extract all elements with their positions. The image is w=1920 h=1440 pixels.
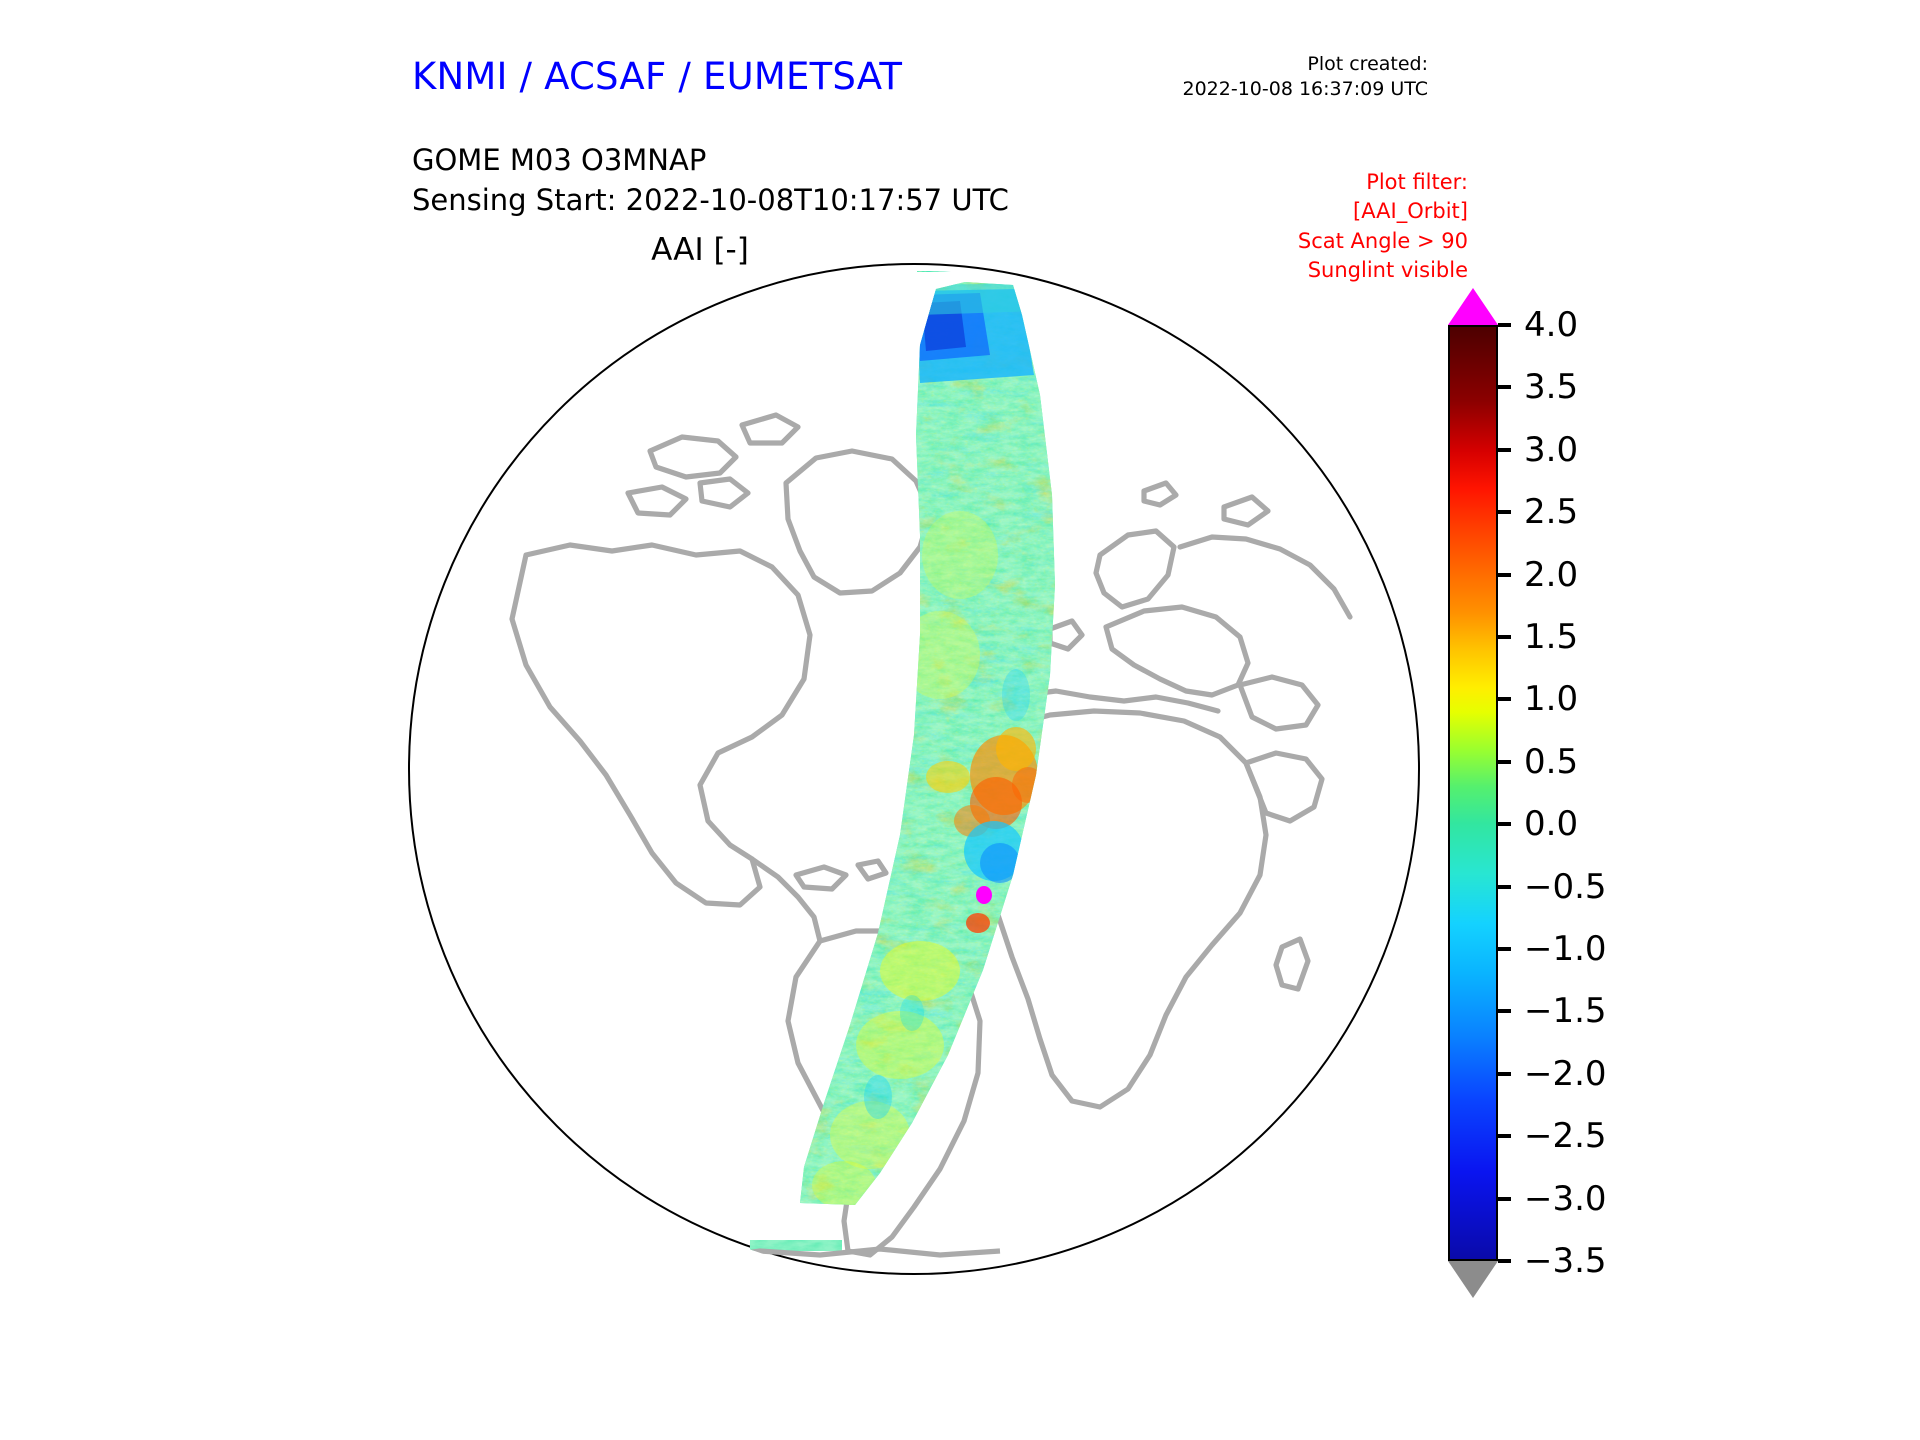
colorbar-tick-label: 0.5 xyxy=(1524,741,1578,783)
globe-graphics xyxy=(400,255,1440,1295)
colorbar-bar xyxy=(1448,325,1498,1261)
colorbar-tick-mark xyxy=(1498,635,1511,639)
colorbar-tick-label: −2.0 xyxy=(1524,1053,1607,1095)
colorbar-tick-mark xyxy=(1498,885,1511,889)
colorbar-tick-label: 2.5 xyxy=(1524,491,1578,533)
product-info-block: GOME M03 O3MNAP Sensing Start: 2022-10-0… xyxy=(412,140,1009,220)
colorbar-gradient xyxy=(1450,327,1496,1259)
colorbar-tick-label: 1.0 xyxy=(1524,678,1578,720)
colorbar-tick-label: −3.0 xyxy=(1524,1178,1607,1220)
colorbar-tick-mark xyxy=(1498,510,1511,514)
orthographic-map xyxy=(400,255,1440,1295)
colorbar-tick-label: −1.5 xyxy=(1524,990,1607,1032)
colorbar-tick-mark xyxy=(1498,697,1511,701)
plot-created-block: Plot created: 2022-10-08 16:37:09 UTC xyxy=(1183,52,1429,102)
colorbar-tick-label: 3.0 xyxy=(1524,429,1578,471)
colorbar-tick-mark xyxy=(1498,1197,1511,1201)
organisation-title: KNMI / ACSAF / EUMETSAT xyxy=(412,55,902,98)
colorbar-tick-mark xyxy=(1498,822,1511,826)
antarctica-coastline xyxy=(700,1249,1000,1259)
colorbar-tick-mark xyxy=(1498,1134,1511,1138)
plot-filter-line-0: [AAI_Orbit] xyxy=(1298,197,1468,226)
aai-swath xyxy=(780,275,1080,1225)
colorbar-tick-mark xyxy=(1498,385,1511,389)
colorbar-under-range-arrow xyxy=(1448,1261,1498,1298)
swath-fragments xyxy=(760,262,1043,279)
colorbar-tick-label: 2.0 xyxy=(1524,554,1578,596)
colorbar-tick-label: 3.5 xyxy=(1524,366,1578,408)
colorbar-tick-mark xyxy=(1498,1009,1511,1013)
colorbar-over-range-arrow xyxy=(1448,288,1498,325)
colorbar-tick-mark xyxy=(1498,323,1511,327)
colorbar-tick-mark xyxy=(1498,760,1511,764)
colorbar-ticks: 4.03.53.02.52.01.51.00.50.0−0.5−1.0−1.5−… xyxy=(1498,325,1688,1261)
colorbar-tick-mark xyxy=(1498,573,1511,577)
colorbar[interactable]: 4.03.53.02.52.01.51.00.50.0−0.5−1.0−1.5−… xyxy=(1448,288,1688,1298)
colorbar-tick-label: 1.5 xyxy=(1524,616,1578,658)
colorbar-tick-label: 4.0 xyxy=(1524,304,1578,346)
colorbar-tick-mark xyxy=(1498,1259,1511,1263)
colorbar-tick-mark xyxy=(1498,1072,1511,1076)
plot-created-timestamp: 2022-10-08 16:37:09 UTC xyxy=(1183,77,1429,102)
colorbar-tick-mark xyxy=(1498,947,1511,951)
product-name: GOME M03 O3MNAP xyxy=(412,140,1009,180)
colorbar-tick-label: −0.5 xyxy=(1524,866,1607,908)
plot-filter-title: Plot filter: xyxy=(1298,168,1468,197)
sensing-start: Sensing Start: 2022-10-08T10:17:57 UTC xyxy=(412,180,1009,220)
colorbar-tick-label: −2.5 xyxy=(1524,1115,1607,1157)
colorbar-tick-label: −3.5 xyxy=(1524,1240,1607,1282)
colorbar-tick-mark xyxy=(1498,448,1511,452)
colorbar-tick-label: 0.0 xyxy=(1524,803,1578,845)
plot-created-label: Plot created: xyxy=(1183,52,1429,77)
colorbar-tick-label: −1.0 xyxy=(1524,928,1607,970)
